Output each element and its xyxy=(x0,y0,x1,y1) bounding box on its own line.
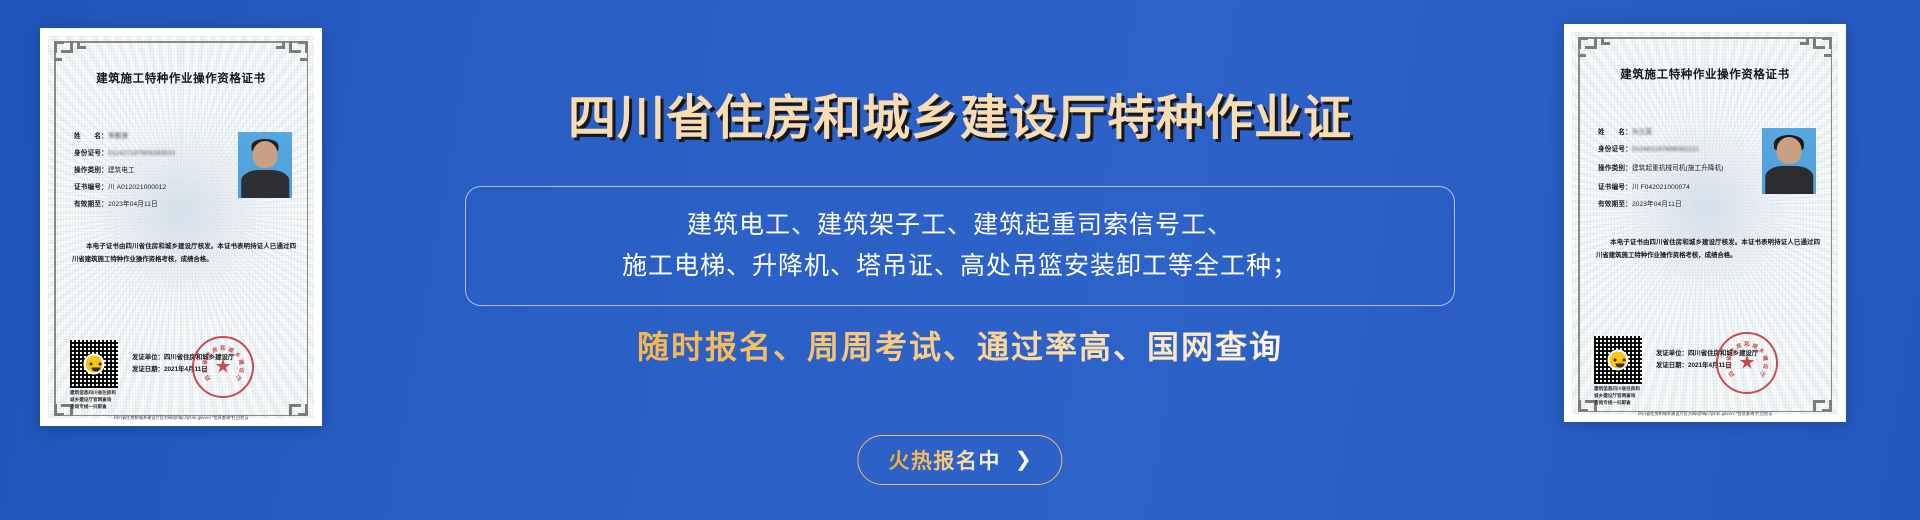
field-certificate-number: 证书编号：川 F042021000074 xyxy=(1598,185,1748,192)
certificate-footer-lines: 建筑信息四川省住房和 城乡建设厅官网查询 咨询专线一扫即查 xyxy=(1594,385,1640,406)
qr-code xyxy=(1594,336,1642,384)
field-valid-until: 有效期至：2023年04月11日 xyxy=(74,202,224,209)
scope-box: 建筑电工、建筑架子工、建筑起重司索信号工、 施工电梯、升降机、塔吊证、高处吊篮安… xyxy=(465,186,1455,306)
certificate-footer-note: 四川省住房和城乡建设厅官方网站http://jzt.sc.gov.cn/ "信息… xyxy=(40,415,322,421)
certificate-card-left: 建筑施工特种作业操作资格证书 姓 名：李都律 身份证号：511427197909… xyxy=(40,28,322,426)
qr-center-emoji-icon xyxy=(84,354,105,375)
scope-line-1: 建筑电工、建筑架子工、建筑起重司索信号工、 xyxy=(687,210,1233,241)
scope-line-2: 施工电梯、升降机、塔吊证、高处吊篮安装卸工等全工种； xyxy=(622,251,1298,282)
field-operation-type: 操作类别：建筑起重机械司机(施工升降机) xyxy=(1598,164,1748,175)
certificate-holder-photo xyxy=(1762,128,1816,194)
certificate-holder-photo xyxy=(238,132,292,198)
field-operation-type: 操作类别：建筑电工 xyxy=(74,168,224,175)
field-certificate-number: 证书编号：川 A012021000012 xyxy=(74,185,224,192)
seal-star-icon: ★ xyxy=(1738,354,1755,373)
seal-star-icon: ★ xyxy=(214,358,231,377)
certificate-footer-lines: 建筑信息四川省住房和 城乡建设厅官网查询 咨询专线一扫即查 xyxy=(70,389,116,410)
qr-center-emoji-icon xyxy=(1608,350,1629,371)
banner-tagline: 随时报名、周周考试、通过率高、国网查询 xyxy=(330,322,1590,368)
enroll-cta-button[interactable]: 火热报名中 ❯ xyxy=(857,435,1062,485)
certificate-body-text: 本电子证书由四川省住房和城乡建设厅核发。本证书表明持证人已通过四川省建筑施工特种… xyxy=(72,240,296,266)
field-id-number: 身份证号：511427197909283910 xyxy=(74,151,224,158)
field-id-number: 身份证号：510481197806082221 xyxy=(1598,147,1748,154)
field-valid-until: 有效期至：2023年04月11日 xyxy=(1598,202,1748,209)
banner-headline: 四川省住房和城乡建设厅特种作业证 xyxy=(330,78,1590,148)
field-name: 姓 名：孙兰英 xyxy=(1598,130,1748,137)
certificate-title: 建筑施工特种作业操作资格证书 xyxy=(40,70,322,86)
official-seal-stamp: 四川省住房和城乡建设厅 ★ xyxy=(1716,332,1778,394)
qr-code xyxy=(70,340,118,388)
certificate-footer-note: 四川省住房和城乡建设厅官方网站http://jzt.sc.gov.cn/ "信息… xyxy=(1564,411,1846,417)
field-name: 姓 名：李都律 xyxy=(74,134,224,141)
certificate-card-right: 建筑施工特种作业操作资格证书 姓 名：孙兰英 身份证号：510481197806… xyxy=(1564,24,1846,422)
banner-center-content: 四川省住房和城乡建设厅特种作业证 建筑电工、建筑架子工、建筑起重司索信号工、 施… xyxy=(330,0,1590,520)
enroll-cta-label: 火热报名中 xyxy=(888,445,1001,475)
certificate-title: 建筑施工特种作业操作资格证书 xyxy=(1564,66,1846,82)
chevron-right-icon: ❯ xyxy=(1015,450,1032,470)
official-seal-stamp: 四川省住房和城乡建设厅 ★ xyxy=(192,336,254,398)
certificate-field-list: 姓 名：李都律 身份证号：511427197909283910 操作类别：建筑电… xyxy=(74,134,224,219)
certificate-body-text: 本电子证书由四川省住房和城乡建设厅核发。本证书表明持证人已通过四川省建筑施工特种… xyxy=(1596,236,1820,262)
certificate-field-list: 姓 名：孙兰英 身份证号：510481197806082221 操作类别：建筑起… xyxy=(1598,130,1748,219)
